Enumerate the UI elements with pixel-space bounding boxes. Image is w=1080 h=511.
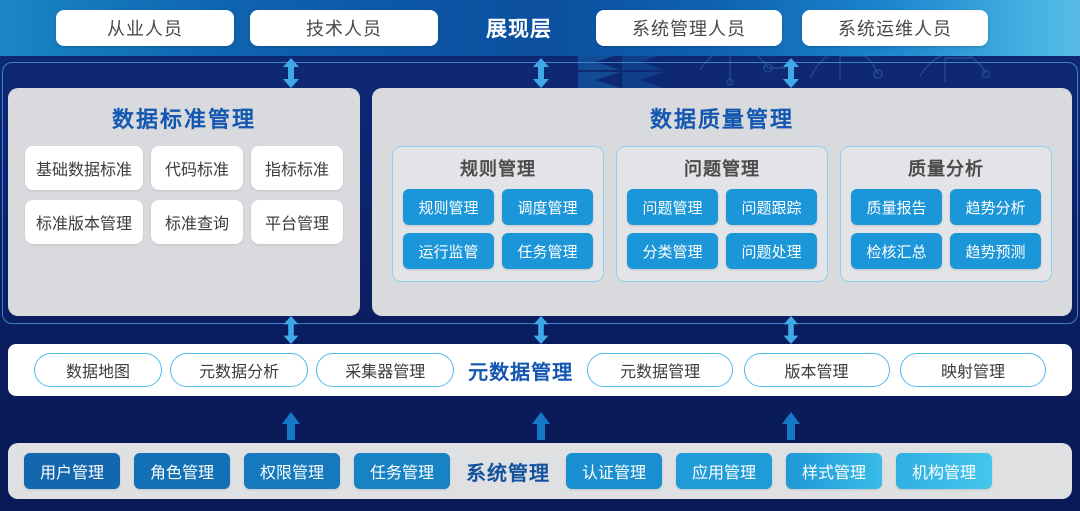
chip-classification-management[interactable]: 分类管理: [627, 233, 718, 269]
chip-inspection-summary[interactable]: 检核汇总: [851, 233, 942, 269]
chip-quality-report[interactable]: 质量报告: [851, 189, 942, 225]
chip-label: 任务管理: [517, 241, 577, 262]
issue-management-subpanel: 问题管理 问题管理 问题跟踪 分类管理 问题处理: [616, 146, 828, 282]
architecture-diagram: 从业人员 技术人员 展现层 系统管理人员 系统运维人员: [0, 0, 1080, 511]
connector-row-middle: [0, 316, 1080, 350]
pill-data-map[interactable]: 数据地图: [34, 353, 162, 387]
chip-rule-management[interactable]: 规则管理: [403, 189, 494, 225]
chip-issue-tracking[interactable]: 问题跟踪: [726, 189, 817, 225]
arrow-up-icon: [530, 412, 552, 440]
pill-application-management[interactable]: 应用管理: [676, 453, 772, 489]
top-pill-label: 系统运维人员: [838, 15, 952, 41]
double-arrow-vertical-icon: [530, 316, 552, 344]
chip-issue-management[interactable]: 问题管理: [627, 189, 718, 225]
system-management-title: 系统管理: [466, 457, 550, 486]
chip-label: 调度管理: [517, 197, 577, 218]
pill-label: 角色管理: [150, 459, 214, 483]
issue-management-chip-grid: 问题管理 问题跟踪 分类管理 问题处理: [627, 189, 817, 269]
chip-label: 分类管理: [642, 241, 702, 262]
metadata-management-row: 数据地图 元数据分析 采集器管理 元数据管理 元数据管理 版本管理 映射管理: [8, 344, 1072, 396]
quality-analysis-subpanel: 质量分析 质量报告 趋势分析 检核汇总 趋势预测: [840, 146, 1052, 282]
chip-label: 基础数据标准: [36, 156, 132, 180]
quality-analysis-title: 质量分析: [851, 155, 1041, 181]
chip-label: 代码标准: [165, 156, 229, 180]
pill-permission-management[interactable]: 权限管理: [244, 453, 340, 489]
pill-auth-management[interactable]: 认证管理: [566, 453, 662, 489]
top-pill-label: 系统管理人员: [632, 15, 746, 41]
system-management-row: 用户管理 角色管理 权限管理 任务管理 系统管理 认证管理 应用管理 样式管理 …: [8, 443, 1072, 499]
pill-label: 样式管理: [802, 459, 866, 483]
chip-standard-query[interactable]: 标准查询: [151, 200, 243, 244]
chip-label: 趋势分析: [965, 197, 1025, 218]
chip-trend-analysis[interactable]: 趋势分析: [950, 189, 1041, 225]
pill-label: 映射管理: [941, 358, 1005, 382]
top-pill-system-admin[interactable]: 系统管理人员: [596, 10, 782, 46]
top-pill-label: 技术人员: [306, 15, 382, 41]
chip-label: 标准查询: [165, 210, 229, 234]
pill-org-management[interactable]: 机构管理: [896, 453, 992, 489]
metadata-management-title: 元数据管理: [468, 356, 573, 385]
pill-task-management[interactable]: 任务管理: [354, 453, 450, 489]
presentation-layer-bar: 从业人员 技术人员 展现层 系统管理人员 系统运维人员: [0, 0, 1080, 56]
pill-label: 采集器管理: [345, 358, 425, 382]
double-arrow-vertical-icon: [780, 316, 802, 344]
chip-label: 质量报告: [866, 197, 926, 218]
chip-trend-forecast[interactable]: 趋势预测: [950, 233, 1041, 269]
top-pill-label: 从业人员: [107, 15, 183, 41]
pill-collector-management[interactable]: 采集器管理: [316, 353, 454, 387]
pill-label: 数据地图: [66, 358, 130, 382]
pill-label: 认证管理: [582, 459, 646, 483]
pill-role-management[interactable]: 角色管理: [134, 453, 230, 489]
pill-user-management[interactable]: 用户管理: [24, 453, 120, 489]
governance-panels: 数据标准管理 基础数据标准 代码标准 指标标准 标准版本管理 标准查询 平台管理…: [8, 88, 1072, 316]
chip-label: 运行监管: [418, 241, 478, 262]
arrow-up-icon: [280, 412, 302, 440]
quality-analysis-chip-grid: 质量报告 趋势分析 检核汇总 趋势预测: [851, 189, 1041, 269]
chip-issue-handling[interactable]: 问题处理: [726, 233, 817, 269]
chip-indicator-standard[interactable]: 指标标准: [251, 146, 343, 190]
chip-basic-data-standard[interactable]: 基础数据标准: [25, 146, 143, 190]
chip-label: 检核汇总: [866, 241, 926, 262]
chip-runtime-supervision[interactable]: 运行监管: [403, 233, 494, 269]
double-arrow-vertical-icon: [530, 58, 552, 88]
presentation-layer-title: 展现层: [486, 13, 552, 43]
top-pill-system-ops[interactable]: 系统运维人员: [802, 10, 988, 46]
data-standard-panel: 数据标准管理 基础数据标准 代码标准 指标标准 标准版本管理 标准查询 平台管理: [8, 88, 360, 316]
chip-label: 规则管理: [418, 197, 478, 218]
chip-label: 标准版本管理: [36, 210, 132, 234]
pill-label: 元数据分析: [199, 358, 279, 382]
pill-label: 权限管理: [260, 459, 324, 483]
chip-label: 趋势预测: [965, 241, 1025, 262]
pill-label: 用户管理: [40, 459, 104, 483]
arrow-up-icon: [780, 412, 802, 440]
chip-platform-management[interactable]: 平台管理: [251, 200, 343, 244]
connector-row-bottom: [0, 412, 1080, 446]
pill-label: 应用管理: [692, 459, 756, 483]
rule-management-chip-grid: 规则管理 调度管理 运行监管 任务管理: [403, 189, 593, 269]
pill-label: 任务管理: [370, 459, 434, 483]
data-quality-title: 数据质量管理: [384, 102, 1060, 134]
top-pill-technician[interactable]: 技术人员: [250, 10, 438, 46]
pill-mapping-management[interactable]: 映射管理: [900, 353, 1046, 387]
rule-management-title: 规则管理: [403, 155, 593, 181]
connector-row-top: [0, 58, 1080, 92]
double-arrow-vertical-icon: [280, 316, 302, 344]
chip-label: 问题处理: [741, 241, 801, 262]
chip-standard-version-management[interactable]: 标准版本管理: [25, 200, 143, 244]
pill-label: 元数据管理: [620, 358, 700, 382]
issue-management-title: 问题管理: [627, 155, 817, 181]
data-quality-panel: 数据质量管理 规则管理 规则管理 调度管理 运行监管 任务管理 问题管理 问题管…: [372, 88, 1072, 316]
top-pill-practitioner[interactable]: 从业人员: [56, 10, 234, 46]
chip-code-standard[interactable]: 代码标准: [151, 146, 243, 190]
double-arrow-vertical-icon: [780, 58, 802, 88]
pill-style-management[interactable]: 样式管理: [786, 453, 882, 489]
chip-label: 指标标准: [265, 156, 329, 180]
chip-label: 问题跟踪: [741, 197, 801, 218]
pill-metadata-analysis[interactable]: 元数据分析: [170, 353, 308, 387]
pill-label: 版本管理: [785, 358, 849, 382]
chip-label: 问题管理: [642, 197, 702, 218]
quality-subpanel-row: 规则管理 规则管理 调度管理 运行监管 任务管理 问题管理 问题管理 问题跟踪 …: [384, 146, 1060, 282]
chip-task-management[interactable]: 任务管理: [502, 233, 593, 269]
chip-schedule-management[interactable]: 调度管理: [502, 189, 593, 225]
double-arrow-vertical-icon: [280, 58, 302, 88]
data-standard-chip-grid: 基础数据标准 代码标准 指标标准 标准版本管理 标准查询 平台管理: [20, 146, 348, 244]
rule-management-subpanel: 规则管理 规则管理 调度管理 运行监管 任务管理: [392, 146, 604, 282]
chip-label: 平台管理: [265, 210, 329, 234]
pill-label: 机构管理: [912, 459, 976, 483]
data-standard-title: 数据标准管理: [20, 102, 348, 134]
pill-metadata-management[interactable]: 元数据管理: [587, 353, 733, 387]
pill-version-management[interactable]: 版本管理: [744, 353, 890, 387]
